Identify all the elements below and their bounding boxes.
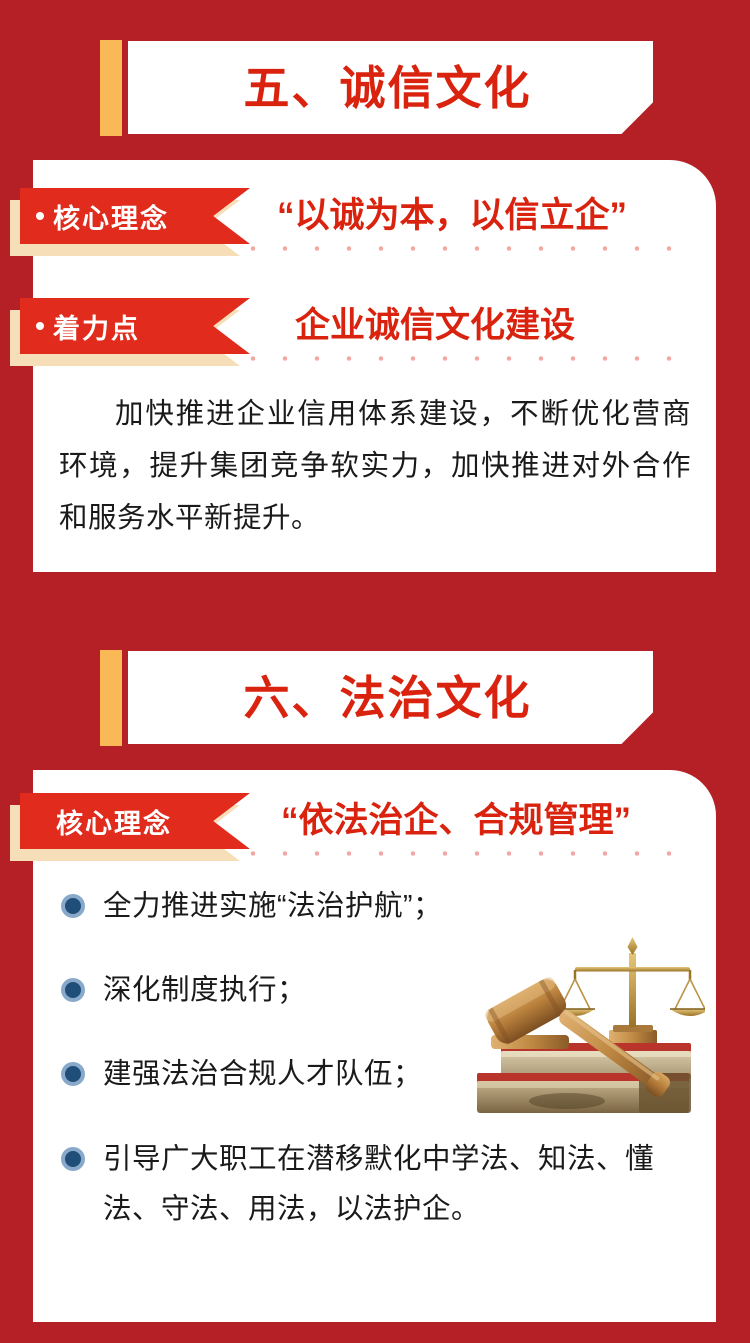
list-item-text: 引导广大职工在潜移默化中学法、知法、懂法、守法、用法，以法护企。	[103, 1143, 654, 1225]
dotted-divider-1	[237, 246, 697, 251]
dotted-divider-2	[237, 356, 697, 361]
list-item: 建强法治合规人才队伍；	[59, 1050, 691, 1098]
core-concept-value-rule-of-law: “依法治企、合规管理”	[281, 803, 631, 838]
ribbon-bullet-icon	[36, 322, 44, 330]
focus-point-value-integrity: 企业诚信文化建设	[295, 308, 575, 343]
ribbon-focus-point-integrity: 着力点	[20, 298, 250, 368]
card-rule-of-law: 核心理念 “依法治企、合规管理”	[33, 770, 716, 1322]
ribbon-core-concept-rule-of-law: 核心理念	[20, 793, 250, 863]
ribbon-core-concept-integrity: 核心理念	[20, 188, 250, 258]
bullet-icon	[61, 894, 85, 918]
ribbon-bullet-icon	[36, 212, 44, 220]
list-item-text: 深化制度执行；	[103, 974, 306, 1006]
list-item: 引导广大职工在潜移默化中学法、知法、懂法、守法、用法，以法护企。	[59, 1134, 691, 1234]
paragraph-integrity: 加快推进企业信用体系建设，不断优化营商环境，提升集团竞争软实力，加快推进对外合作…	[59, 388, 691, 544]
list-item: 全力推进实施“法治护航”；	[59, 882, 691, 930]
header-accent-bar	[100, 40, 122, 136]
bullet-icon	[61, 978, 85, 1002]
bullet-icon	[61, 1147, 85, 1171]
dotted-divider-3	[237, 851, 697, 856]
section-title-rule-of-law: 六、法治文化	[128, 651, 653, 744]
list-item-text: 建强法治合规人才队伍；	[103, 1058, 422, 1090]
ribbon-label-text: 核心理念	[53, 197, 169, 236]
section-header-integrity: 五、诚信文化	[100, 40, 653, 136]
card-integrity: 核心理念 “以诚为本，以信立企” 着力点 企业诚信文化建设 加快推进企业信用体系…	[33, 160, 716, 572]
section-header-rule-of-law: 六、法治文化	[100, 650, 653, 746]
ribbon-label-text: 着力点	[53, 307, 140, 346]
ribbon-label-text: 核心理念	[56, 802, 172, 841]
list-item: 深化制度执行；	[59, 966, 691, 1014]
header-accent-bar	[100, 650, 122, 746]
bullet-list-rule-of-law: 全力推进实施“法治护航”； 深化制度执行； 建强法治合规人才队伍； 引导广大职工…	[59, 882, 691, 1234]
core-concept-value-integrity: “以诚为本，以信立企”	[277, 198, 627, 233]
list-item-text: 全力推进实施“法治护航”；	[103, 890, 442, 922]
poster-page: 五、诚信文化 核心理念 “以诚为本，以信立企” 着力点 企业诚信文化建设 加快推…	[0, 0, 750, 1343]
bullet-icon	[61, 1062, 85, 1086]
section-title-integrity: 五、诚信文化	[128, 41, 653, 134]
